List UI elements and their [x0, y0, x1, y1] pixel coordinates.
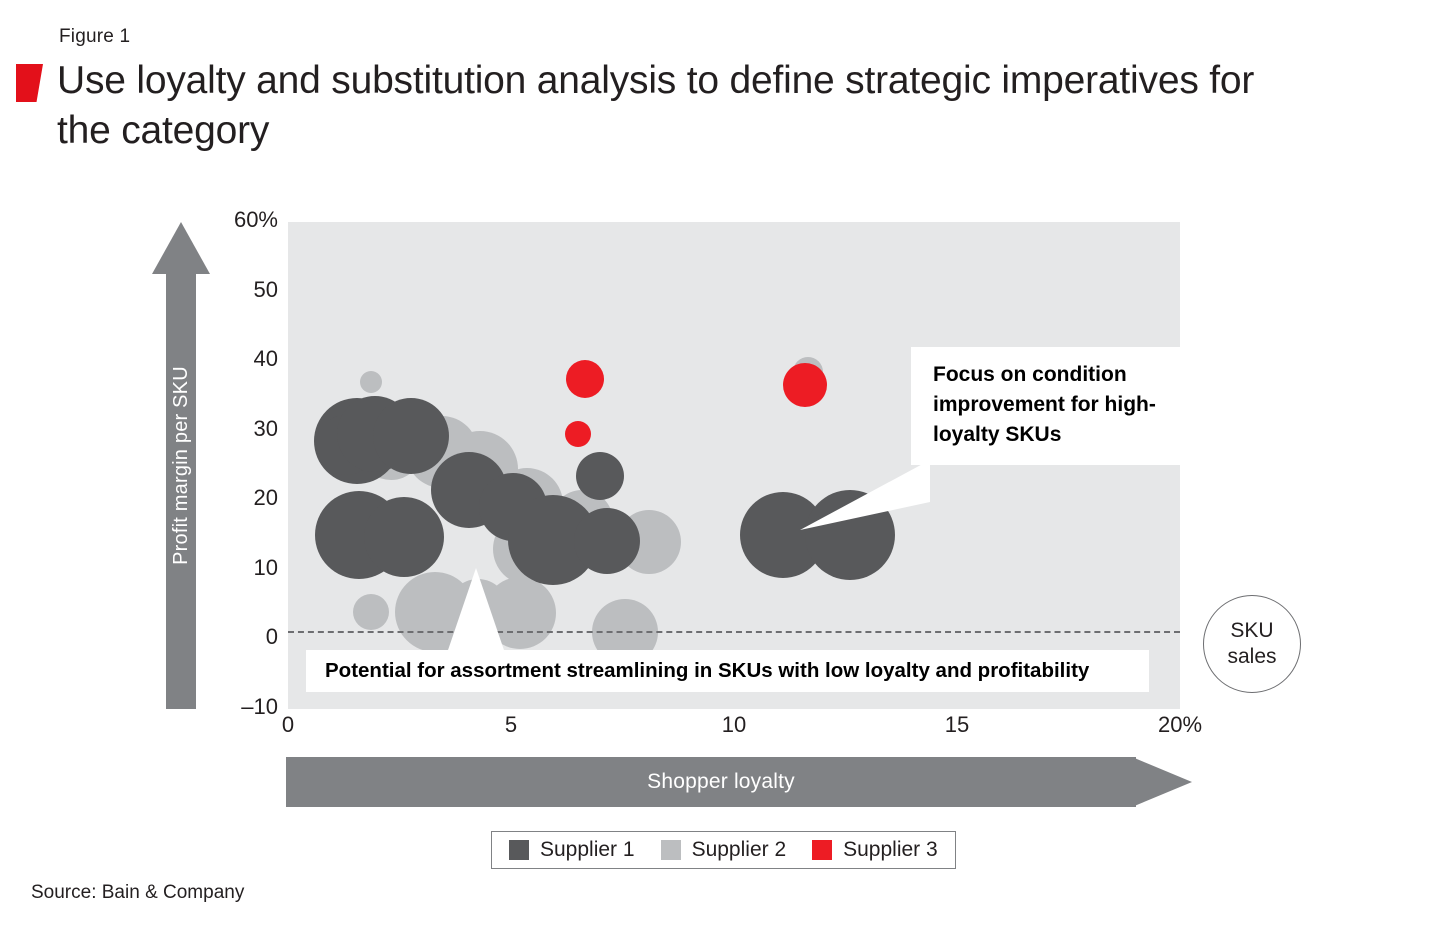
callout-focus-tail [800, 460, 930, 530]
data-bubble [565, 421, 591, 447]
x-axis-tick: 10 [689, 712, 779, 738]
zero-reference-line [288, 631, 1180, 633]
legend-swatch [812, 840, 832, 860]
data-bubble [783, 363, 827, 407]
legend-label: Supplier 2 [692, 838, 787, 862]
y-axis-tick: 60% [202, 207, 278, 233]
y-axis-tick: 30 [202, 416, 278, 442]
data-bubble [373, 398, 449, 474]
chart-legend: Supplier 1Supplier 2Supplier 3 [491, 831, 956, 869]
data-bubble [360, 371, 382, 393]
bubble-chart: Profit margin per SKU 60%50403020100–10 … [0, 0, 1440, 932]
data-bubble [353, 594, 389, 630]
y-axis-tick: 20 [202, 485, 278, 511]
sku-size-legend-line1: SKU [1230, 618, 1273, 644]
legend-swatch [661, 840, 681, 860]
x-axis-title: Shopper loyalty [286, 757, 1156, 807]
sku-size-legend: SKU sales [1203, 595, 1301, 693]
legend-item: Supplier 3 [812, 838, 938, 862]
legend-label: Supplier 1 [540, 838, 635, 862]
y-axis-arrow-shaft [166, 272, 196, 709]
source-note: Source: Bain & Company [31, 882, 244, 904]
callout-focus: Focus on condition improvement for high-… [911, 347, 1189, 465]
x-axis-tick: 20% [1135, 712, 1225, 738]
callout-potential: Potential for assortment streamlining in… [306, 650, 1149, 692]
data-bubble [364, 497, 444, 577]
legend-item: Supplier 2 [661, 838, 787, 862]
data-bubble [566, 360, 604, 398]
y-axis-tick: 10 [202, 555, 278, 581]
callout-potential-tail [446, 568, 506, 656]
plot-area [288, 222, 1180, 709]
data-bubble [576, 452, 624, 500]
y-axis-tick: 50 [202, 277, 278, 303]
figure-page: Figure 1 Use loyalty and substitution an… [0, 0, 1440, 932]
legend-label: Supplier 3 [843, 838, 938, 862]
legend-item: Supplier 1 [509, 838, 635, 862]
x-axis-tick: 5 [466, 712, 556, 738]
data-bubble [574, 508, 640, 574]
y-axis-tick: 40 [202, 346, 278, 372]
x-axis-tick: 0 [243, 712, 333, 738]
x-axis-tick: 15 [912, 712, 1002, 738]
y-axis-tick: 0 [202, 624, 278, 650]
legend-swatch [509, 840, 529, 860]
sku-size-legend-line2: sales [1227, 644, 1276, 670]
